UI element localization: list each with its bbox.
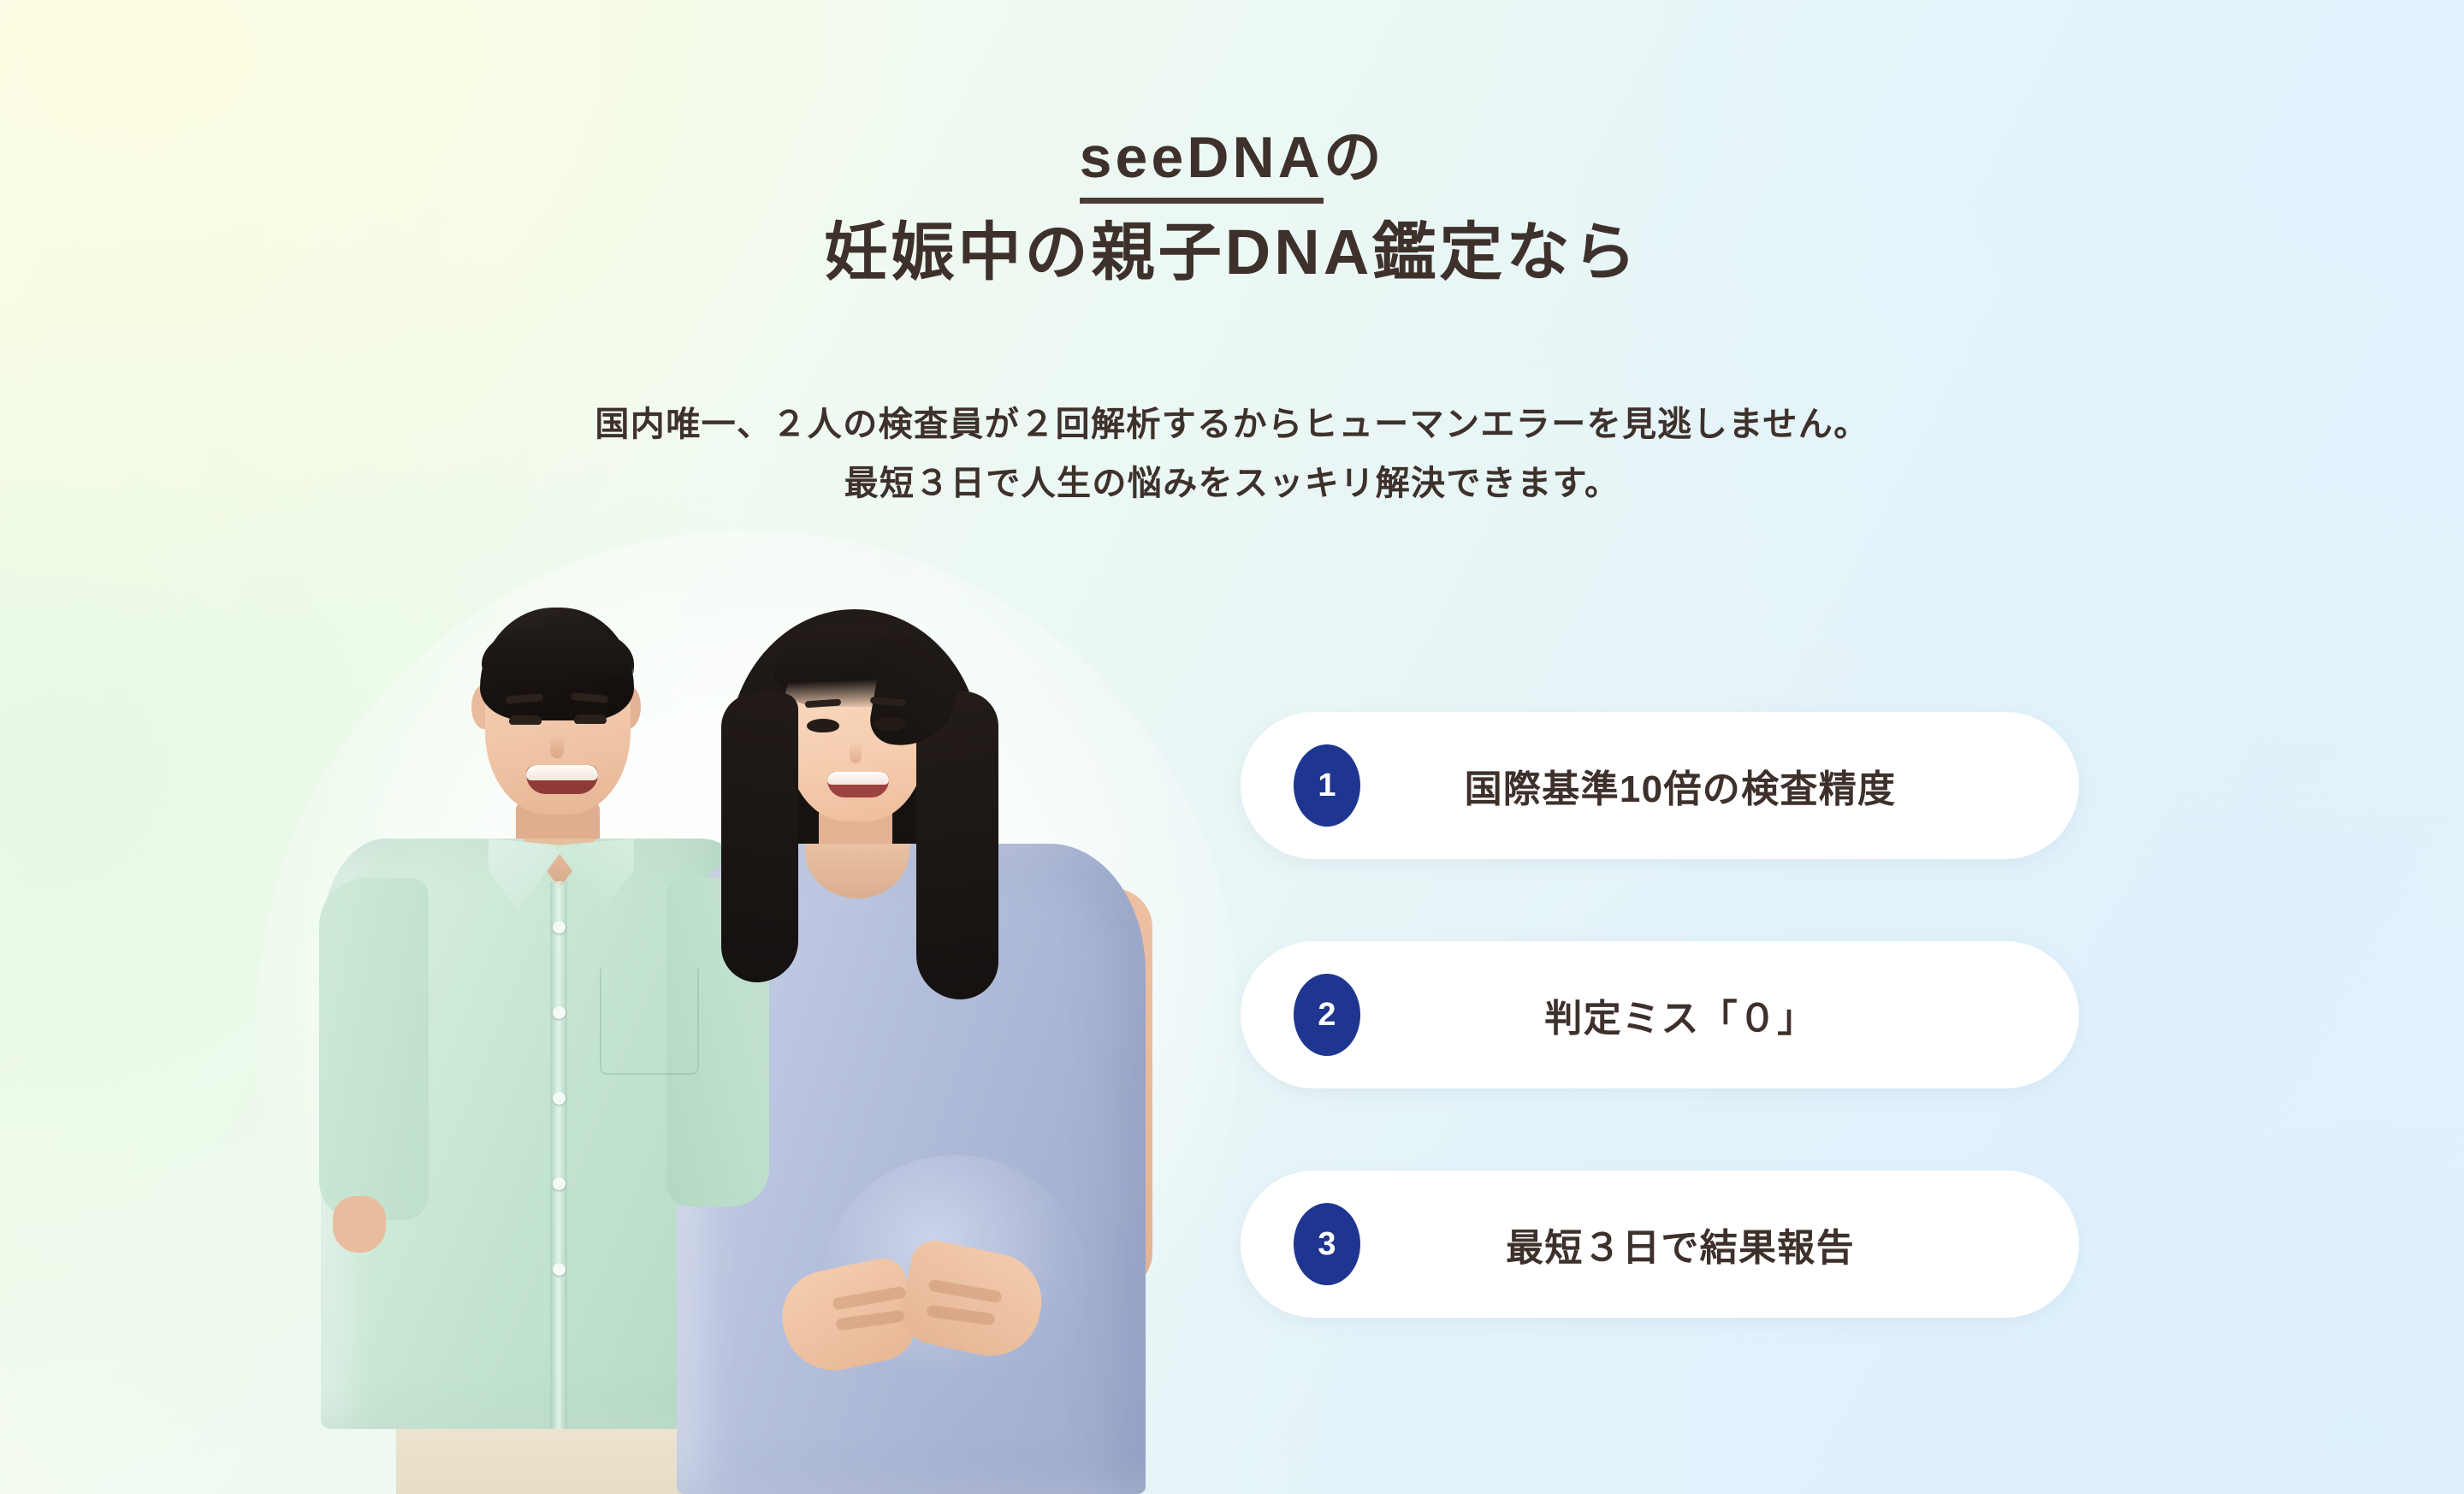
man-hand-left	[333, 1196, 386, 1253]
brand-name-underlined: seeDNA	[1080, 125, 1324, 204]
man-fringe	[482, 628, 634, 683]
woman-eye-left	[807, 719, 839, 732]
feature-card-3-label: 最短３日で結果報告	[1360, 1217, 2079, 1272]
man-shirt-button	[553, 1263, 566, 1276]
man-shirt-pocket	[600, 969, 699, 1075]
headline-line-1-suffix: の	[1324, 125, 1384, 190]
man-sleeve-left	[319, 878, 429, 1220]
woman-mouth	[827, 772, 889, 797]
man-nose	[550, 734, 564, 758]
man-shirt-button	[553, 1092, 566, 1105]
woman-nose	[850, 741, 862, 763]
man-shirt-button	[553, 1006, 566, 1019]
man-mouth	[526, 765, 598, 794]
feature-card-3[interactable]: 3 最短３日で結果報告	[1241, 1171, 2079, 1318]
headline-line-1: seeDNAの	[0, 128, 2464, 187]
feature-card-1-badge: 1	[1294, 744, 1360, 827]
feature-card-2[interactable]: 2 判定ミス「０」	[1241, 941, 2079, 1088]
feature-card-1-label: 国際基準10倍の検査精度	[1360, 758, 2079, 813]
woman-eye-right	[874, 717, 906, 731]
subcopy-line-1: 国内唯一、２人の検査員が２回解析するからヒューマンエラーを見逃しません。	[0, 395, 2464, 454]
headline-block: seeDNAの 妊娠中の親子DNA鑑定なら	[0, 128, 2464, 286]
woman-hair-left	[721, 693, 798, 982]
feature-cards-list: 1 国際基準10倍の検査精度 2 判定ミス「０」 3 最短３日で結果報告	[1241, 712, 2096, 1318]
man-shirt-button	[553, 1177, 566, 1190]
man-shirt-placket	[550, 881, 567, 1429]
man-shirt-button	[553, 921, 566, 934]
woman-teeth	[827, 772, 889, 785]
feature-card-3-badge: 3	[1294, 1203, 1360, 1285]
subcopy-line-2: 最短３日で人生の悩みをスッキリ解決できます。	[0, 454, 2464, 513]
feature-card-2-badge: 2	[1294, 974, 1360, 1056]
feature-card-1[interactable]: 1 国際基準10倍の検査精度	[1241, 712, 2079, 859]
man-eye-right	[574, 714, 607, 724]
man-teeth	[526, 765, 598, 780]
hero-section: seeDNAの 妊娠中の親子DNA鑑定なら 国内唯一、２人の検査員が２回解析する…	[0, 0, 2464, 1494]
couple-photo	[304, 590, 1168, 1494]
man-eye-left	[509, 715, 542, 725]
feature-card-2-label: 判定ミス「０」	[1360, 987, 2079, 1042]
headline-line-2: 妊娠中の親子DNA鑑定なら	[0, 219, 2464, 286]
subcopy-block: 国内唯一、２人の検査員が２回解析するからヒューマンエラーを見逃しません。 最短３…	[0, 395, 2464, 513]
